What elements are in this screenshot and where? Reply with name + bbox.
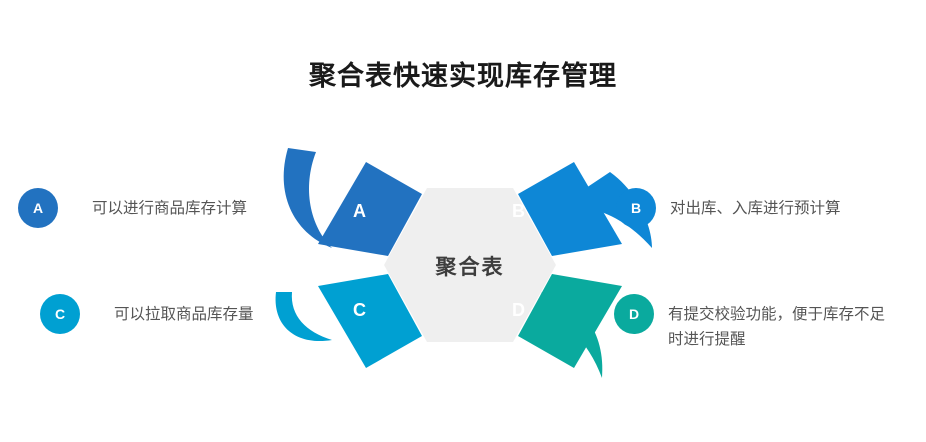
hexagon-infographic: A B C D 聚合表 [270, 140, 670, 390]
callout-badge-b: B [616, 188, 656, 228]
callout-d: D 有提交校验功能，便于库存不足 时进行提醒 [614, 294, 885, 352]
petal-letter-b: B [512, 202, 526, 220]
callout-text-b: 对出库、入库进行预计算 [670, 188, 841, 221]
page-title: 聚合表快速实现库存管理 [0, 58, 926, 94]
petal-letter-c: C [353, 301, 367, 319]
callout-badge-c: C [40, 294, 80, 334]
callout-b: B 对出库、入库进行预计算 [616, 188, 841, 228]
callout-badge-a: A [18, 188, 58, 228]
callout-text-d: 有提交校验功能，便于库存不足 时进行提醒 [668, 294, 885, 352]
center-hexagon-label: 聚合表 [385, 255, 555, 281]
callout-text-a: 可以进行商品库存计算 [92, 188, 247, 221]
petal-letter-a: A [353, 202, 367, 220]
callout-badge-d: D [614, 294, 654, 334]
crescent-c-icon [276, 292, 332, 341]
callout-a: A 可以进行商品库存计算 [18, 188, 247, 228]
petal-letter-d: D [512, 301, 526, 319]
callout-text-c: 可以拉取商品库存量 [114, 294, 254, 327]
callout-c: C 可以拉取商品库存量 [40, 294, 254, 334]
